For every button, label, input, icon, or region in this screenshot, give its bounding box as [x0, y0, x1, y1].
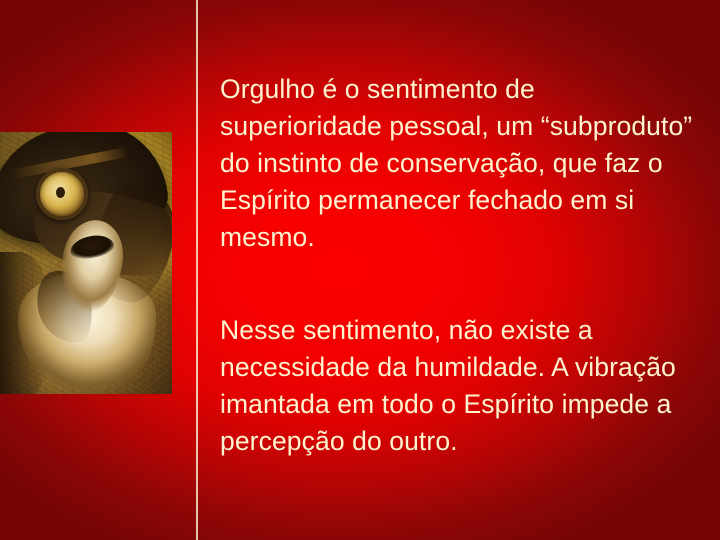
illustration-image [0, 132, 172, 394]
text-column: Orgulho é o sentimento de superioridade … [220, 44, 694, 486]
vertical-divider [196, 0, 198, 540]
paragraph-1: Orgulho é o sentimento de superioridade … [220, 71, 694, 256]
illustration-vignette [0, 132, 172, 394]
slide-canvas: Orgulho é o sentimento de superioridade … [0, 0, 720, 540]
paragraph-2: Nesse sentimento, não existe a necessida… [220, 312, 694, 460]
